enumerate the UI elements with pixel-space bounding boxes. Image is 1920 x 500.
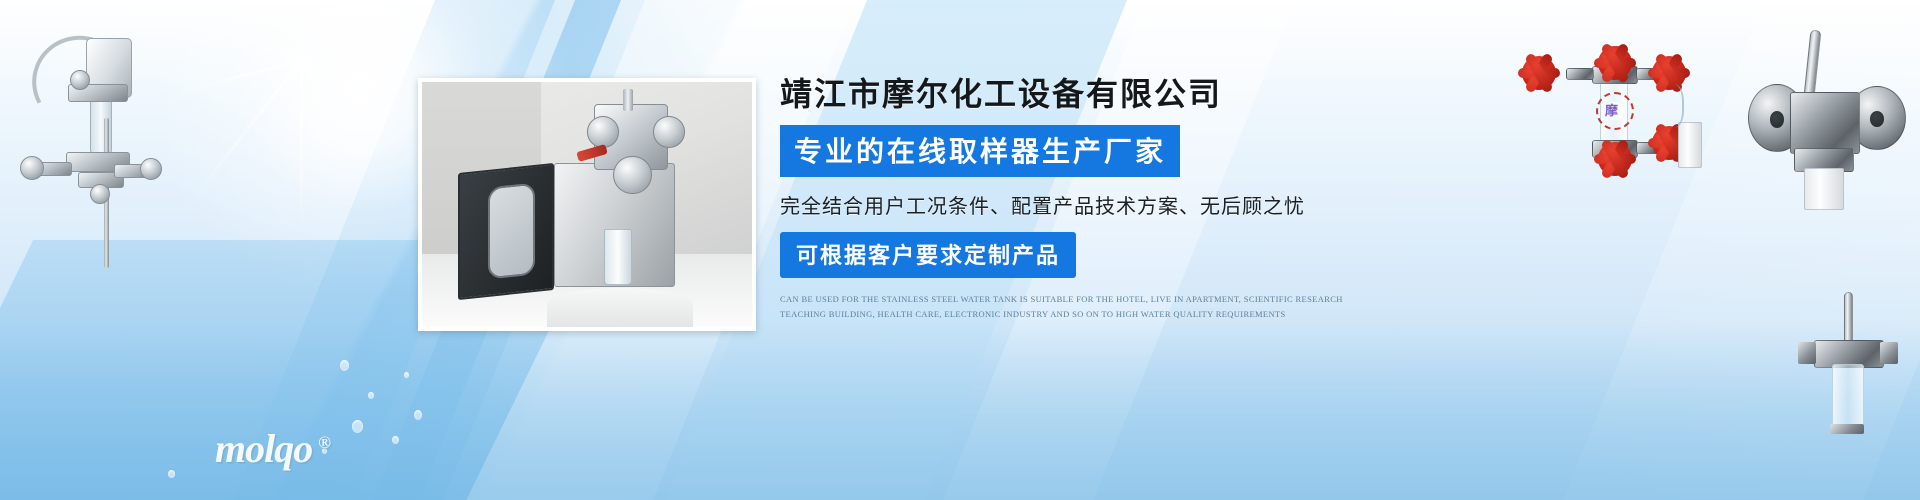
small-sampler-flange-left bbox=[1798, 342, 1816, 364]
device-knob-1 bbox=[20, 156, 44, 180]
sun-ray-1 bbox=[300, 60, 303, 230]
left-device-image bbox=[8, 22, 178, 282]
sun-ray-5 bbox=[301, 59, 437, 98]
sun-ray-7 bbox=[301, 18, 415, 62]
cta-highlight-bar[interactable]: 可根据客户要求定制产品 bbox=[780, 232, 1076, 278]
product-small-sampler bbox=[1792, 292, 1912, 442]
photo-pedestal bbox=[547, 288, 692, 327]
water-drop-icon bbox=[340, 360, 349, 371]
cta-text: 可根据客户要求定制产品 bbox=[796, 243, 1060, 268]
watermark-logo: molqo® bbox=[215, 425, 330, 472]
sun-ray-3 bbox=[300, 59, 382, 163]
promo-banner: 靖江市摩尔化工设备有限公司 专业的在线取样器生产厂家 完全结合用户工况条件、配置… bbox=[0, 0, 1920, 500]
headline-text-block: 靖江市摩尔化工设备有限公司 专业的在线取样器生产厂家 完全结合用户工况条件、配置… bbox=[780, 76, 1400, 322]
lever-valve-outlet bbox=[1804, 168, 1844, 210]
background-lower-band bbox=[0, 320, 1920, 500]
device-knob-3 bbox=[70, 70, 90, 90]
sun-ray-4 bbox=[166, 59, 302, 98]
photo-flange-center bbox=[613, 156, 651, 195]
company-name: 靖江市摩尔化工设备有限公司 bbox=[780, 76, 1400, 113]
water-drop-icon bbox=[404, 372, 409, 378]
watermark-text: molqo bbox=[215, 426, 312, 471]
company-seal-icon: 摩 bbox=[1596, 92, 1634, 130]
cross-valve-tubing bbox=[1660, 84, 1684, 128]
device-knob-4 bbox=[90, 184, 110, 204]
product-lever-valve bbox=[1748, 30, 1908, 210]
english-description: CAN BE USED FOR THE STAINLESS STEEL WATE… bbox=[780, 292, 1380, 322]
device-knob-2 bbox=[140, 158, 162, 180]
product-cross-valve: 摩 bbox=[1500, 40, 1730, 180]
headline-highlight-bar: 专业的在线取样器生产厂家 bbox=[780, 125, 1180, 177]
photo-valve-stem bbox=[623, 89, 633, 111]
lever-valve-body bbox=[1790, 92, 1860, 154]
photo-sample-bottle bbox=[604, 229, 632, 285]
center-product-photo bbox=[418, 78, 756, 331]
small-sampler-stem bbox=[1844, 292, 1853, 346]
water-drop-icon bbox=[392, 436, 399, 444]
water-drop-icon bbox=[168, 470, 175, 478]
registered-trademark-icon: ® bbox=[318, 433, 330, 452]
photo-flange-left bbox=[587, 116, 619, 147]
small-sampler-sight-glass bbox=[1832, 364, 1864, 430]
photo-door-window bbox=[488, 182, 535, 279]
sun-ray-6 bbox=[188, 18, 302, 62]
water-drop-icon bbox=[368, 392, 374, 399]
cross-valve-sample-bottle bbox=[1678, 122, 1702, 168]
cross-valve-arm-left-top bbox=[1566, 68, 1594, 80]
sun-ray-2 bbox=[196, 59, 303, 195]
water-drop-icon bbox=[414, 410, 422, 420]
photo-flange-right bbox=[653, 116, 685, 147]
small-sampler-flange-right bbox=[1880, 342, 1898, 364]
small-sampler-base bbox=[1830, 424, 1864, 434]
water-drop-icon bbox=[352, 420, 363, 433]
headline-text: 专业的在线取样器生产厂家 bbox=[794, 136, 1166, 167]
subline-text: 完全结合用户工况条件、配置产品技术方案、无后顾之忧 bbox=[780, 190, 1400, 219]
